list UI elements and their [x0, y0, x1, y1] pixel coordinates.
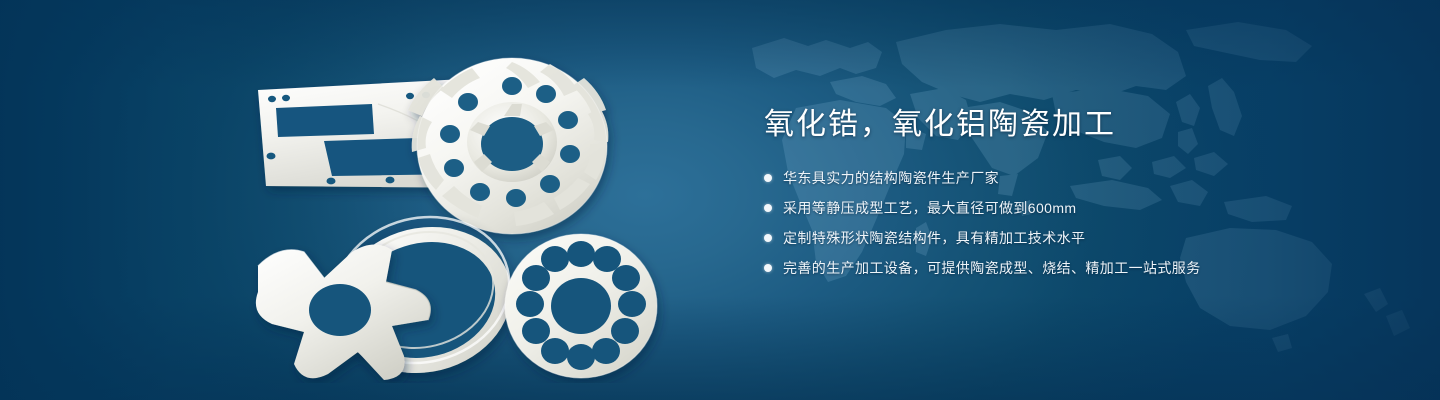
bullet-dot-icon	[764, 174, 772, 182]
headline: 氧化锆，氧化铝陶瓷加工	[764, 108, 1384, 142]
feature-list: 华东具实力的结构陶瓷件生产厂家 采用等静压成型工艺，最大直径可做到600mm 定…	[764, 168, 1384, 278]
list-item: 华东具实力的结构陶瓷件生产厂家	[764, 168, 1384, 188]
list-item: 采用等静压成型工艺，最大直径可做到600mm	[764, 198, 1384, 218]
list-item: 完善的生产加工设备，可提供陶瓷成型、烧结、精加工一站式服务	[764, 258, 1384, 278]
bullet-dot-icon	[764, 264, 772, 272]
marketing-copy: 氧化锆，氧化铝陶瓷加工 华东具实力的结构陶瓷件生产厂家 采用等静压成型工艺，最大…	[764, 108, 1384, 278]
list-item-label: 华东具实力的结构陶瓷件生产厂家	[783, 168, 999, 188]
bullet-dot-icon	[764, 234, 772, 242]
ceramic-products-photo	[228, 38, 698, 383]
list-item: 定制特殊形状陶瓷结构件，具有精加工技术水平	[764, 228, 1384, 248]
bullet-dot-icon	[764, 204, 772, 212]
list-item-label: 完善的生产加工设备，可提供陶瓷成型、烧结、精加工一站式服务	[783, 258, 1201, 278]
list-item-label: 定制特殊形状陶瓷结构件，具有精加工技术水平	[783, 228, 1085, 248]
ceramic-processing-banner: 氧化锆，氧化铝陶瓷加工 华东具实力的结构陶瓷件生产厂家 采用等静压成型工艺，最大…	[0, 0, 1440, 400]
list-item-label: 采用等静压成型工艺，最大直径可做到600mm	[783, 198, 1076, 218]
ceramic-impeller-disc	[408, 58, 608, 234]
ceramic-perforated-disc	[505, 234, 657, 378]
